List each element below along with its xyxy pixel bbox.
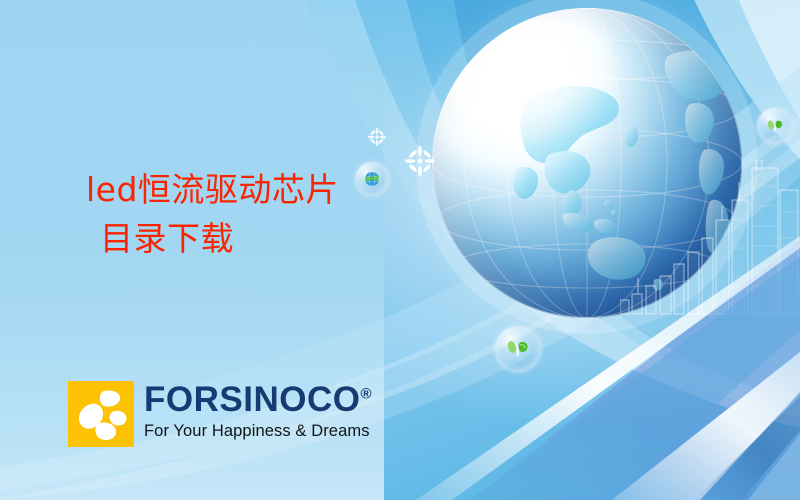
- sparkle-large-icon: [405, 146, 435, 176]
- promo-banner: led恒流驱动芯片 目录下载 FORSINOCO® For Your Happ: [0, 0, 800, 500]
- headline-line-1: led恒流驱动芯片: [86, 166, 339, 215]
- forsinoco-pinwheel-mark-icon: [68, 381, 134, 447]
- logo-wordmark-text: FORSINOCO: [144, 380, 360, 419]
- registered-trademark-symbol: ®: [360, 385, 372, 402]
- mini-globe-icon: [355, 162, 389, 196]
- headline-line-2: 目录下载: [86, 215, 339, 264]
- logo-wordmark: FORSINOCO®: [144, 382, 372, 417]
- leaf-icon: [495, 326, 541, 372]
- sparkle-small-icon: [368, 128, 386, 146]
- bubble-mini-globe: [355, 162, 389, 196]
- bubble-green-leaf: [495, 326, 541, 372]
- promo-headline: led恒流驱动芯片 目录下载: [86, 166, 339, 264]
- logo-text-block: FORSINOCO® For Your Happiness & Dreams: [144, 381, 372, 440]
- bubble-leaf-small: [757, 108, 793, 144]
- logo-tagline: For Your Happiness & Dreams: [144, 423, 372, 440]
- forsinoco-logo: FORSINOCO® For Your Happiness & Dreams: [68, 381, 372, 447]
- leaf-icon-small: [757, 108, 793, 144]
- city-skyline-silhouette: [620, 160, 800, 320]
